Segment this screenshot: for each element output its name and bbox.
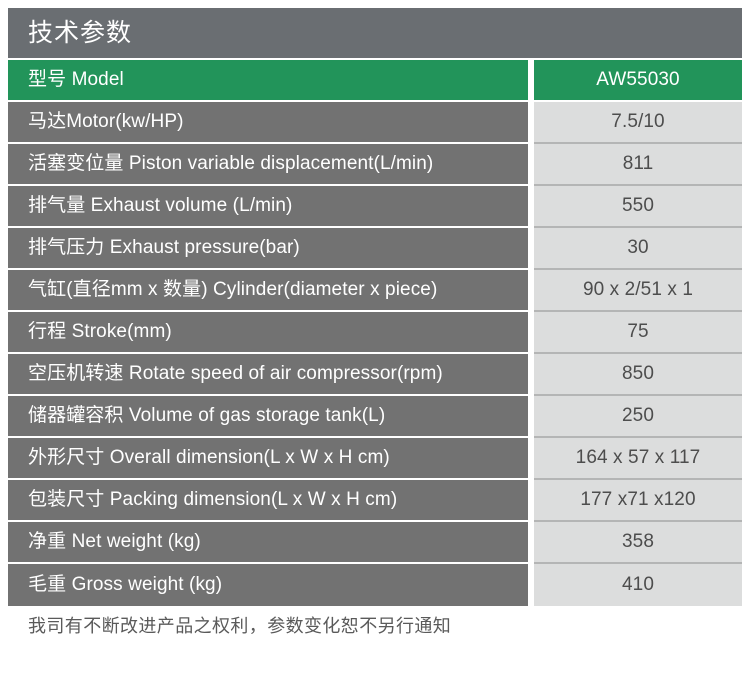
table-row: 排气压力 Exhaust pressure(bar)30 xyxy=(8,228,742,270)
table-row: 空压机转速 Rotate speed of air compressor(rpm… xyxy=(8,354,742,396)
table-header-value-model: AW55030 xyxy=(534,60,742,102)
table-cell-value: 550 xyxy=(534,186,742,228)
table-body: 型号 Model AW55030 马达Motor(kw/HP)7.5/10活塞变… xyxy=(8,60,742,606)
table-cell-label: 毛重 Gross weight (kg) xyxy=(8,564,528,606)
table-cell-label: 气缸(直径mm x 数量) Cylinder(diameter x piece) xyxy=(8,270,528,312)
table-cell-label: 排气量 Exhaust volume (L/min) xyxy=(8,186,528,228)
table-row: 马达Motor(kw/HP)7.5/10 xyxy=(8,102,742,144)
spec-title-bar: 技术参数 xyxy=(8,8,742,58)
table-cell-value: 75 xyxy=(534,312,742,354)
table-cell-value: 410 xyxy=(534,564,742,606)
table-row: 外形尺寸 Overall dimension(L x W x H cm)164 … xyxy=(8,438,742,480)
table-cell-value: 811 xyxy=(534,144,742,186)
table-cell-label: 行程 Stroke(mm) xyxy=(8,312,528,354)
table-cell-value: 358 xyxy=(534,522,742,564)
table-header-label-model: 型号 Model xyxy=(8,60,528,102)
table-row: 储器罐容积 Volume of gas storage tank(L)250 xyxy=(8,396,742,438)
table-cell-label: 包装尺寸 Packing dimension(L x W x H cm) xyxy=(8,480,528,522)
footnote-text: 我司有不断改进产品之权利，参数变化恕不另行通知 xyxy=(28,612,451,638)
table-row: 气缸(直径mm x 数量) Cylinder(diameter x piece)… xyxy=(8,270,742,312)
technical-specifications-table: 型号 Model AW55030 马达Motor(kw/HP)7.5/10活塞变… xyxy=(8,60,742,606)
table-row: 行程 Stroke(mm)75 xyxy=(8,312,742,354)
table-row: 毛重 Gross weight (kg)410 xyxy=(8,564,742,606)
table-cell-value: 7.5/10 xyxy=(534,102,742,144)
table-cell-label: 马达Motor(kw/HP) xyxy=(8,102,528,144)
table-cell-value: 850 xyxy=(534,354,742,396)
table-cell-label: 外形尺寸 Overall dimension(L x W x H cm) xyxy=(8,438,528,480)
table-cell-value: 164 x 57 x 117 xyxy=(534,438,742,480)
table-row: 净重 Net weight (kg)358 xyxy=(8,522,742,564)
table-row: 活塞变位量 Piston variable displacement(L/min… xyxy=(8,144,742,186)
table-cell-value: 90 x 2/51 x 1 xyxy=(534,270,742,312)
table-cell-label: 排气压力 Exhaust pressure(bar) xyxy=(8,228,528,270)
table-cell-value: 250 xyxy=(534,396,742,438)
table-cell-value: 30 xyxy=(534,228,742,270)
spec-sheet: 技术参数 型号 Model AW55030 马达Motor(kw/HP)7.5/… xyxy=(0,0,750,674)
table-header-row: 型号 Model AW55030 xyxy=(8,60,742,102)
table-cell-label: 空压机转速 Rotate speed of air compressor(rpm… xyxy=(8,354,528,396)
page-title: 技术参数 xyxy=(8,21,132,46)
table-cell-label: 储器罐容积 Volume of gas storage tank(L) xyxy=(8,396,528,438)
table-row: 排气量 Exhaust volume (L/min)550 xyxy=(8,186,742,228)
table-cell-label: 净重 Net weight (kg) xyxy=(8,522,528,564)
table-row: 包装尺寸 Packing dimension(L x W x H cm)177 … xyxy=(8,480,742,522)
table-cell-label: 活塞变位量 Piston variable displacement(L/min… xyxy=(8,144,528,186)
table-cell-value: 177 x71 x120 xyxy=(534,480,742,522)
